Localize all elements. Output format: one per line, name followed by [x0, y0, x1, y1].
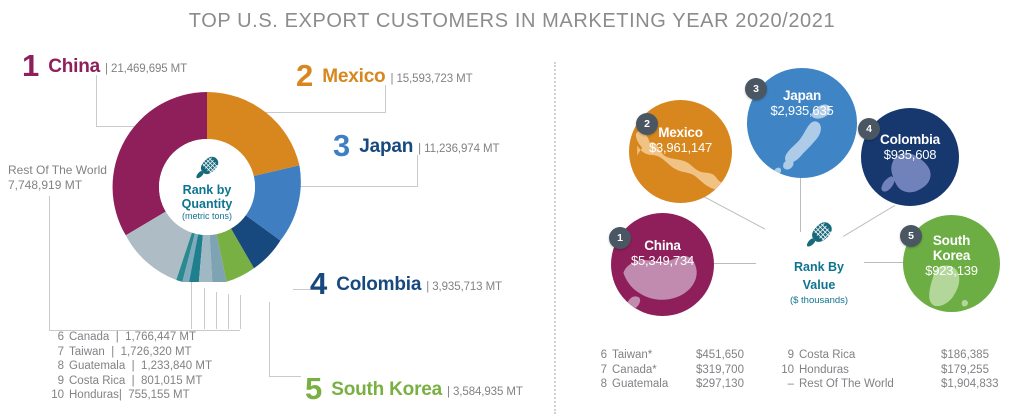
badge-mexico: 2 — [636, 113, 658, 135]
list-item: 8Guatemala | 1,233,840 MT — [50, 359, 212, 374]
leader-tick-9 — [228, 294, 229, 329]
minor-rank-6: 6 — [50, 330, 64, 345]
rank-by-value-line1: Rank By — [756, 261, 882, 275]
vl-name-rotw: Rest Of The World — [799, 377, 894, 392]
callout-china: 1China| 21,469,695 MT — [22, 50, 187, 81]
callout-value-mexico: | 15,593,723 MT — [390, 73, 472, 85]
donut-center-line3: (metric tons) — [182, 211, 232, 222]
panel-divider — [554, 62, 556, 414]
page-title: TOP U.S. EXPORT CUSTOMERS IN MARKETING Y… — [0, 10, 1024, 33]
list-item: 10 Honduras $179,255 — [779, 363, 1009, 378]
callout-south-korea: 5South Korea| 3,584,935 MT — [305, 373, 523, 404]
list-item: – Rest Of The World $1,904,833 — [779, 377, 1009, 392]
badge-china: 1 — [609, 227, 631, 249]
rank-by-value-line2: Value — [756, 279, 882, 293]
corn-icon — [192, 153, 222, 183]
minor-name-10: Honduras — [69, 389, 119, 401]
callout-name-china: China — [48, 56, 100, 77]
minor-value-6: 1,766,447 MT — [125, 331, 196, 343]
callout-rank-colombia: 4 — [310, 268, 327, 299]
donut-center-label: Rank by Quantity (metric tons) — [159, 139, 255, 235]
val-colombia: 3,935,713 MT — [432, 281, 502, 293]
leader-tick-8 — [216, 292, 217, 329]
minor-name-6: Canada — [69, 331, 109, 343]
value-list-right: 9 Costa Rica $186,385 10 Honduras $179,2… — [779, 348, 1009, 392]
val-japan: 11,236,974 MT — [424, 143, 499, 155]
sep-colombia: | — [426, 281, 429, 293]
rest-of-world-name: Rest Of The World — [8, 163, 107, 178]
callout-value-china: | 21,469,695 MT — [105, 63, 187, 75]
connector-china — [708, 263, 756, 264]
val-mexico: 15,593,723 MT — [396, 73, 472, 85]
vl-value-9: $186,385 — [941, 348, 989, 363]
minor-sep-7: | — [111, 346, 114, 358]
leader-line-skorea-h — [269, 376, 301, 377]
quantity-minor-list: 6Canada | 1,766,447 MT 7Taiwan | 1,726,3… — [50, 330, 212, 403]
list-item: 6Canada | 1,766,447 MT — [50, 330, 212, 345]
leader-tick-10 — [240, 295, 241, 329]
sep-south-korea: | — [447, 386, 450, 398]
vl-rank-6: 6 — [592, 348, 607, 363]
leader-line-japan-h — [300, 186, 418, 187]
callout-japan: 3Japan| 11,236,974 MT — [333, 130, 499, 161]
minor-value-8: 1,233,840 MT — [141, 360, 212, 372]
callout-rank-south-korea: 5 — [305, 373, 322, 404]
minor-name-9: Costa Rica — [69, 375, 125, 387]
callout-value-south-korea: | 3,584,935 MT — [447, 386, 523, 398]
vl-rank-10: 10 — [779, 363, 794, 378]
list-item: 8 Guatemala $297,130 — [592, 377, 782, 392]
minor-rank-9: 9 — [50, 374, 64, 389]
vl-rank-8: 8 — [592, 377, 607, 392]
minor-value-10: 755,155 MT — [128, 389, 189, 401]
leader-line-china — [96, 75, 97, 127]
vl-rank-rotw: – — [779, 377, 794, 392]
sep-japan: | — [418, 143, 421, 155]
vl-rank-7: 7 — [592, 363, 607, 378]
rank-by-value-center: Rank By Value ($ thousands) — [756, 218, 882, 307]
val-china: 21,469,695 MT — [111, 63, 187, 75]
callout-name-mexico: Mexico — [322, 66, 385, 87]
leader-tick-6 — [191, 281, 192, 329]
vl-value-8: $297,130 — [696, 377, 744, 392]
val-south-korea: 3,584,935 MT — [453, 386, 523, 398]
callout-rank-mexico: 2 — [296, 60, 313, 91]
value-list-left: 6 Taiwan* $451,650 7 Canada* $319,700 8 … — [592, 348, 782, 392]
rest-of-world-label: Rest Of The World 7,748,919 MT — [8, 163, 107, 193]
minor-sep-10: | — [119, 389, 122, 401]
vl-name-9: Costa Rica — [799, 348, 855, 363]
infographic-root: TOP U.S. EXPORT CUSTOMERS IN MARKETING Y… — [0, 0, 1024, 418]
callout-rank-china: 1 — [22, 50, 39, 81]
vl-name-8: Guatemala — [612, 377, 668, 392]
rest-of-world-value: 7,748,919 MT — [8, 178, 107, 193]
minor-value-9: 801,015 MT — [141, 375, 202, 387]
callout-value-colombia: | 3,935,713 MT — [426, 281, 502, 293]
list-item: 9 Costa Rica $186,385 — [779, 348, 1009, 363]
leader-line-skorea — [269, 302, 270, 376]
leader-tick-7 — [204, 288, 205, 329]
vl-name-6: Taiwan* — [612, 348, 652, 363]
badge-japan: 3 — [745, 78, 767, 100]
minor-rank-8: 8 — [50, 359, 64, 374]
rank-by-value-line3: ($ thousands) — [756, 295, 882, 307]
minor-rank-10: 10 — [50, 388, 64, 403]
minor-sep-9: | — [132, 375, 135, 387]
minor-name-7: Taiwan — [69, 346, 105, 358]
badge-colombia: 4 — [858, 118, 880, 140]
minor-sep-8: | — [132, 360, 135, 372]
callout-name-japan: Japan — [359, 136, 413, 157]
badge-south-korea: 5 — [900, 225, 922, 247]
list-item: 7Taiwan | 1,726,320 MT — [50, 345, 212, 360]
callout-mexico: 2Mexico| 15,593,723 MT — [296, 60, 473, 91]
minor-value-7: 1,726,320 MT — [121, 346, 192, 358]
vl-value-10: $179,255 — [941, 363, 989, 378]
vl-name-10: Honduras — [799, 363, 849, 378]
leader-line-rotw — [49, 196, 50, 330]
list-item: 9Costa Rica | 801,015 MT — [50, 374, 212, 389]
quantity-donut-chart: Rank by Quantity (metric tons) — [112, 92, 302, 282]
callout-rank-japan: 3 — [333, 130, 350, 161]
callout-value-japan: | 11,236,974 MT — [418, 143, 499, 155]
callout-name-south-korea: South Korea — [331, 379, 442, 400]
vl-value-7: $319,700 — [696, 363, 744, 378]
list-item: 10Honduras| 755,155 MT — [50, 388, 212, 403]
vl-value-6: $451,650 — [696, 348, 744, 363]
minor-sep-6: | — [116, 331, 119, 343]
list-item: 7 Canada* $319,700 — [592, 363, 782, 378]
sep-mexico: | — [390, 73, 393, 85]
donut-center-line1: Rank by — [183, 184, 232, 197]
vl-rank-9: 9 — [779, 348, 794, 363]
sep-china: | — [105, 63, 108, 75]
corn-icon — [802, 218, 836, 252]
minor-rank-7: 7 — [50, 345, 64, 360]
callout-colombia: 4Colombia| 3,935,713 MT — [310, 268, 502, 299]
minor-name-8: Guatemala — [69, 360, 125, 372]
vl-name-7: Canada* — [612, 363, 657, 378]
donut-center-line2: Quantity — [182, 198, 233, 211]
callout-name-colombia: Colombia — [336, 274, 421, 295]
vl-value-rotw: $1,904,833 — [941, 377, 999, 392]
list-item: 6 Taiwan* $451,650 — [592, 348, 782, 363]
